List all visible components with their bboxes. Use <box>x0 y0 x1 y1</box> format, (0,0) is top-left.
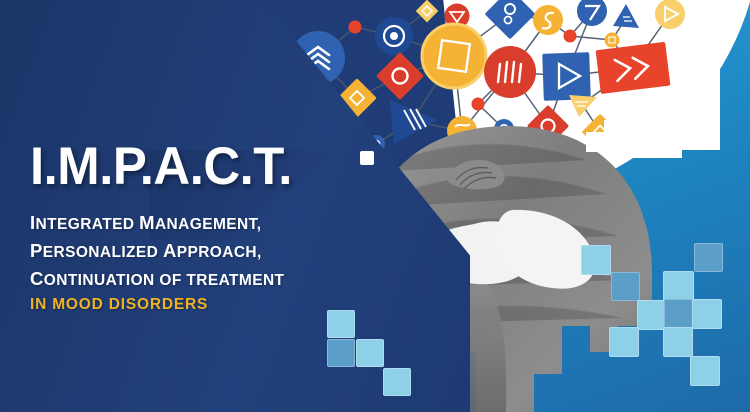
mosaic-square <box>637 300 667 330</box>
mosaic-square <box>609 327 639 357</box>
node-dot-icon-yellow <box>605 33 620 48</box>
node-play-triangle-icon <box>542 52 591 101</box>
mosaic-square <box>694 243 723 272</box>
mosaic-square <box>663 327 693 357</box>
page-title: I.M.P.A.C.T. <box>30 140 356 193</box>
mosaic-square <box>664 299 694 329</box>
node-dot-icon-a <box>349 21 362 34</box>
node-play-circle-icon <box>655 0 685 29</box>
subtitle-block: INTEGRATED MANAGEMENT, PERSONALIZED APPR… <box>30 209 370 317</box>
node-ring-icon-a <box>376 52 424 100</box>
node-dot-icon-c <box>564 30 577 43</box>
node-circles-icon <box>485 0 536 39</box>
impact-banner: I.M.P.A.C.T. INTEGRATED MANAGEMENT, PERS… <box>0 0 750 412</box>
white-notch-shape-small <box>586 132 616 152</box>
mosaic-square <box>356 339 384 367</box>
subtitle-line-2: PERSONALIZED APPROACH, <box>30 237 370 265</box>
mosaic-square <box>327 339 355 367</box>
subtitle-line-1: INTEGRATED MANAGEMENT, <box>30 209 370 237</box>
node-triangle-up-icon <box>613 4 639 28</box>
subtitle-line-4: IN MOOD DISORDERS <box>30 293 370 317</box>
mosaic-square <box>663 271 694 302</box>
mosaic-square <box>581 245 611 275</box>
node-s-curve-icon <box>533 5 563 35</box>
mosaic-square <box>611 272 640 301</box>
mosaic-square <box>692 299 722 329</box>
mosaic-square <box>690 356 720 386</box>
headline-text-block: I.M.P.A.C.T. INTEGRATED MANAGEMENT, PERS… <box>30 140 370 317</box>
node-small-diamond-icon-a <box>416 0 439 22</box>
node-double-chevron-icon <box>596 42 671 94</box>
node-bar-lines-icon <box>484 46 536 98</box>
node-rotated-square-icon <box>422 24 486 88</box>
node-dot-icon-b <box>472 98 485 111</box>
node-target-ring-icon <box>375 17 413 55</box>
mosaic-square <box>604 120 618 134</box>
subtitle-line-3: CONTINUATION OF TREATMENT <box>30 265 370 293</box>
mosaic-square <box>383 368 411 396</box>
